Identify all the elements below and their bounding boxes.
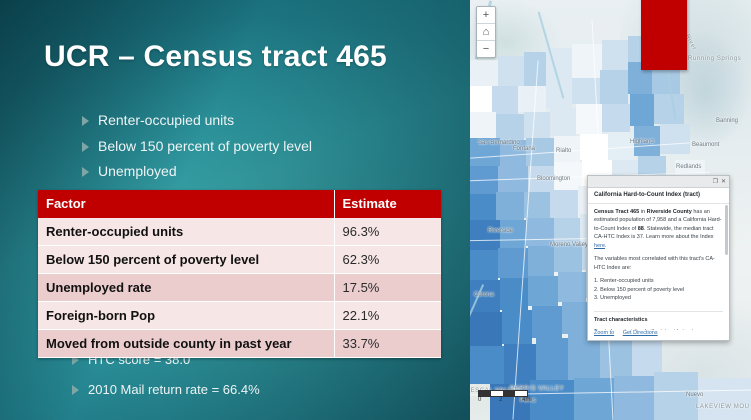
cell-estimate: 17.5% — [334, 274, 441, 302]
triangle-bullet-icon — [82, 167, 89, 177]
triangle-bullet-icon — [82, 142, 89, 152]
popup-variables-intro: The variables most correlated with this … — [594, 255, 723, 272]
popup-summary-paragraph: Census Tract 465 in Riverside County has… — [594, 208, 723, 251]
map-label: San Bernardino — [478, 140, 520, 146]
cell-estimate: 22.1% — [334, 302, 441, 330]
map-region-label: Running Springs — [688, 56, 741, 62]
popup-body: Census Tract 465 in Riverside County has… — [588, 204, 729, 330]
map-label: Riverside — [488, 228, 513, 234]
bullet-label: Unemployed — [98, 163, 177, 181]
popup-action-links[interactable]: Zoom to Get Directions — [588, 330, 729, 340]
close-icon[interactable]: ✕ — [721, 179, 726, 185]
popup-title: California Hard-to-Count Index (tract) — [588, 188, 729, 204]
popup-variables-list: 1. Renter-occupied units 2. Below 150 pe… — [594, 277, 723, 303]
variable-item: 1. Renter-occupied units — [594, 277, 723, 286]
zoom-in-icon[interactable]: + — [477, 7, 495, 24]
zoom-out-icon[interactable]: − — [477, 41, 495, 57]
cell-factor: Moved from outside county in past year — [38, 330, 334, 358]
index-here-link[interactable]: here — [594, 243, 605, 249]
cell-factor: Unemployed rate — [38, 274, 334, 302]
bullet-label: 2010 Mail return rate = 66.4% — [88, 382, 260, 398]
map-viewport[interactable]: Fontana Rialto Bloomington San Bernardin… — [470, 0, 751, 420]
map-label: Rialto — [556, 148, 571, 154]
triangle-bullet-icon — [72, 385, 79, 395]
map-label: Beaumont — [692, 142, 719, 148]
map-feature-popup[interactable]: ❐ ✕ California Hard-to-Count Index (trac… — [587, 175, 730, 341]
scale-label-zero: 0 — [478, 397, 481, 403]
cell-factor: Renter-occupied units — [38, 218, 334, 246]
scale-label-mid: 2 — [499, 397, 502, 403]
map-label: Banning — [716, 118, 738, 124]
table-row: Foreign-born Pop 22.1% — [38, 302, 441, 330]
column-header-estimate: Estimate — [334, 190, 441, 218]
popup-text-end: . — [605, 243, 607, 249]
triangle-bullet-icon — [82, 116, 89, 126]
popup-subheading: Tract characteristics — [594, 311, 723, 325]
map-label: Fontana — [513, 146, 535, 152]
list-item: Unemployed — [82, 163, 412, 181]
home-icon[interactable]: ⌂ — [477, 24, 495, 41]
list-item: Below 150 percent of poverty level — [82, 138, 412, 156]
slide-content-panel: UCR – Census tract 465 Renter-occupied u… — [0, 0, 470, 420]
bullet-label: Renter-occupied units — [98, 112, 234, 130]
table-row: Renter-occupied units 96.3% — [38, 218, 441, 246]
get-directions-link[interactable]: Get Directions — [623, 330, 658, 336]
cell-estimate: 33.7% — [334, 330, 441, 358]
table-row: Below 150 percent of poverty level 62.3% — [38, 246, 441, 274]
popup-sub-text: Tract characteristics (with statewide tr… — [594, 328, 723, 330]
cell-factor: Foreign-born Pop — [38, 302, 334, 330]
variable-item: 2. Below 150 percent of poverty level — [594, 286, 723, 295]
county-name: Riverside County — [647, 209, 692, 215]
tract-name: Census Tract 465 — [594, 209, 639, 215]
table-row: Unemployed rate 17.5% — [38, 274, 441, 302]
list-item: 2010 Mail return rate = 66.4% — [72, 382, 432, 398]
bullet-label: Below 150 percent of poverty level — [98, 138, 312, 156]
top-bullet-list: Renter-occupied units Below 150 percent … — [82, 112, 412, 189]
red-highlight-rectangle — [641, 0, 687, 70]
factor-estimate-table: Factor Estimate Renter-occupied units 96… — [38, 190, 441, 358]
list-item: Renter-occupied units — [82, 112, 412, 130]
popup-text-in: in — [639, 209, 646, 215]
zoom-to-link[interactable]: Zoom to — [594, 330, 614, 336]
cell-estimate: 62.3% — [334, 246, 441, 274]
map-zoom-controls[interactable]: + ⌂ − — [476, 6, 496, 58]
scale-label-max: 4mi — [522, 397, 532, 403]
map-label: Corona — [474, 292, 494, 298]
page-title: UCR – Census tract 465 — [44, 40, 444, 75]
map-label: Nuevo — [686, 392, 703, 398]
map-label: Highland — [630, 139, 654, 145]
cell-estimate: 96.3% — [334, 218, 441, 246]
popup-scrollbar[interactable] — [725, 205, 728, 255]
map-scale-bar: 0 2 4mi — [478, 390, 534, 406]
scale-tick-labels: 0 2 4mi — [478, 397, 534, 406]
variable-item: 3. Unemployed — [594, 294, 723, 303]
maximize-icon[interactable]: ❐ — [713, 179, 718, 185]
scale-track — [478, 390, 528, 397]
map-region-label: LAKEVIEW MOU — [696, 404, 750, 410]
bottom-bullet-list: HTC score = 38.0 2010 Mail return rate =… — [72, 352, 432, 413]
table-header-row: Factor Estimate — [38, 190, 441, 218]
map-label: Moreno Valley — [550, 242, 588, 248]
cell-factor: Below 150 percent of poverty level — [38, 246, 334, 274]
column-header-factor: Factor — [38, 190, 334, 218]
map-label: Bloomington — [537, 176, 570, 182]
table-row: Moved from outside county in past year 3… — [38, 330, 441, 358]
presentation-slide: UCR – Census tract 465 Renter-occupied u… — [0, 0, 751, 420]
popup-titlebar: ❐ ✕ — [588, 176, 729, 188]
map-label: Redlands — [676, 164, 701, 170]
